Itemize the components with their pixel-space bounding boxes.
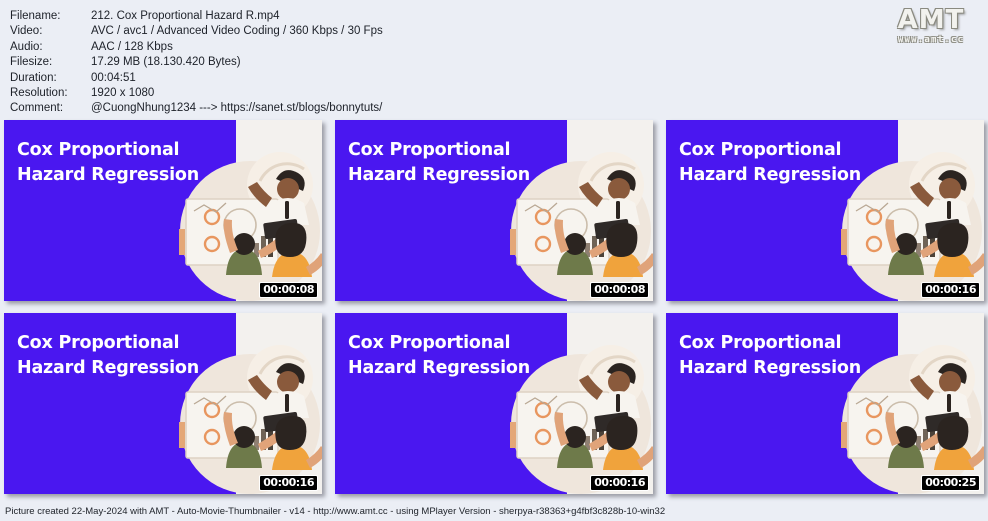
thumbnail-frame[interactable]: Cox Proportional Hazard Regression: [666, 120, 984, 301]
metadata-value-resolution: 1920 x 1080: [91, 86, 383, 101]
metadata-label-filename: Filename:: [10, 9, 91, 24]
metadata-value-audio: AAC / 128 Kbps: [91, 40, 383, 55]
metadata-label-resolution: Resolution:: [10, 86, 91, 101]
thumbnail-frame[interactable]: Cox Proportional Hazard Regression: [335, 313, 653, 494]
analytics-illustration: [499, 344, 653, 494]
metadata-label-comment: Comment:: [10, 101, 91, 116]
metadata-row-comment: Comment: @CuongNhung1234 ---> https://sa…: [10, 101, 383, 116]
metadata-value-filename: 212. Cox Proportional Hazard R.mp4: [91, 9, 383, 24]
thumbnail-timestamp: 00:00:08: [259, 282, 318, 298]
metadata-row-video: Video: AVC / avc1 / Advanced Video Codin…: [10, 24, 383, 39]
thumbnail-frame[interactable]: Cox Proportional Hazard Regression: [4, 313, 322, 494]
thumbnail-frame[interactable]: Cox Proportional Hazard Regression: [335, 120, 653, 301]
metadata-value-comment: @CuongNhung1234 ---> https://sanet.st/bl…: [91, 101, 383, 116]
analytics-illustration: [168, 344, 322, 494]
metadata-label-duration: Duration:: [10, 71, 91, 86]
amt-logo-url: www.amt.cc: [882, 34, 980, 46]
thumbnail-timestamp: 00:00:16: [921, 282, 980, 298]
thumbnail-timestamp: 00:00:16: [259, 475, 318, 491]
thumbnail-frame[interactable]: Cox Proportional Hazard Regression: [666, 313, 984, 494]
analytics-illustration: [830, 344, 984, 494]
metadata-row-duration: Duration: 00:04:51: [10, 71, 383, 86]
metadata-row-filename: Filename: 212. Cox Proportional Hazard R…: [10, 9, 383, 24]
metadata-value-filesize: 17.29 MB (18.130.420 Bytes): [91, 55, 383, 70]
amt-logo-text: AMT: [882, 6, 980, 34]
thumbnail-frame[interactable]: Cox Proportional Hazard Regression: [4, 120, 322, 301]
metadata-value-duration: 00:04:51: [91, 71, 383, 86]
metadata-row-resolution: Resolution: 1920 x 1080: [10, 86, 383, 101]
thumbnail-grid: Cox Proportional Hazard Regression: [4, 120, 984, 494]
metadata-row-audio: Audio: AAC / 128 Kbps: [10, 40, 383, 55]
metadata-value-video: AVC / avc1 / Advanced Video Coding / 360…: [91, 24, 383, 39]
metadata-label-video: Video:: [10, 24, 91, 39]
metadata-label-audio: Audio:: [10, 40, 91, 55]
analytics-illustration: [499, 151, 653, 301]
metadata-row-filesize: Filesize: 17.29 MB (18.130.420 Bytes): [10, 55, 383, 70]
footer-bar: Picture created 22-May-2024 with AMT - A…: [0, 503, 988, 521]
analytics-illustration: [168, 151, 322, 301]
thumbnail-timestamp: 00:00:25: [921, 475, 980, 491]
thumbnail-timestamp: 00:00:08: [590, 282, 649, 298]
file-info-header: Filename: 212. Cox Proportional Hazard R…: [0, 0, 988, 118]
analytics-illustration: [830, 151, 984, 301]
thumbnail-timestamp: 00:00:16: [590, 475, 649, 491]
footer-credit-text: Picture created 22-May-2024 with AMT - A…: [5, 506, 665, 517]
file-metadata-table: Filename: 212. Cox Proportional Hazard R…: [10, 9, 383, 117]
metadata-label-filesize: Filesize:: [10, 55, 91, 70]
amt-logo: AMT www.amt.cc: [882, 6, 980, 52]
